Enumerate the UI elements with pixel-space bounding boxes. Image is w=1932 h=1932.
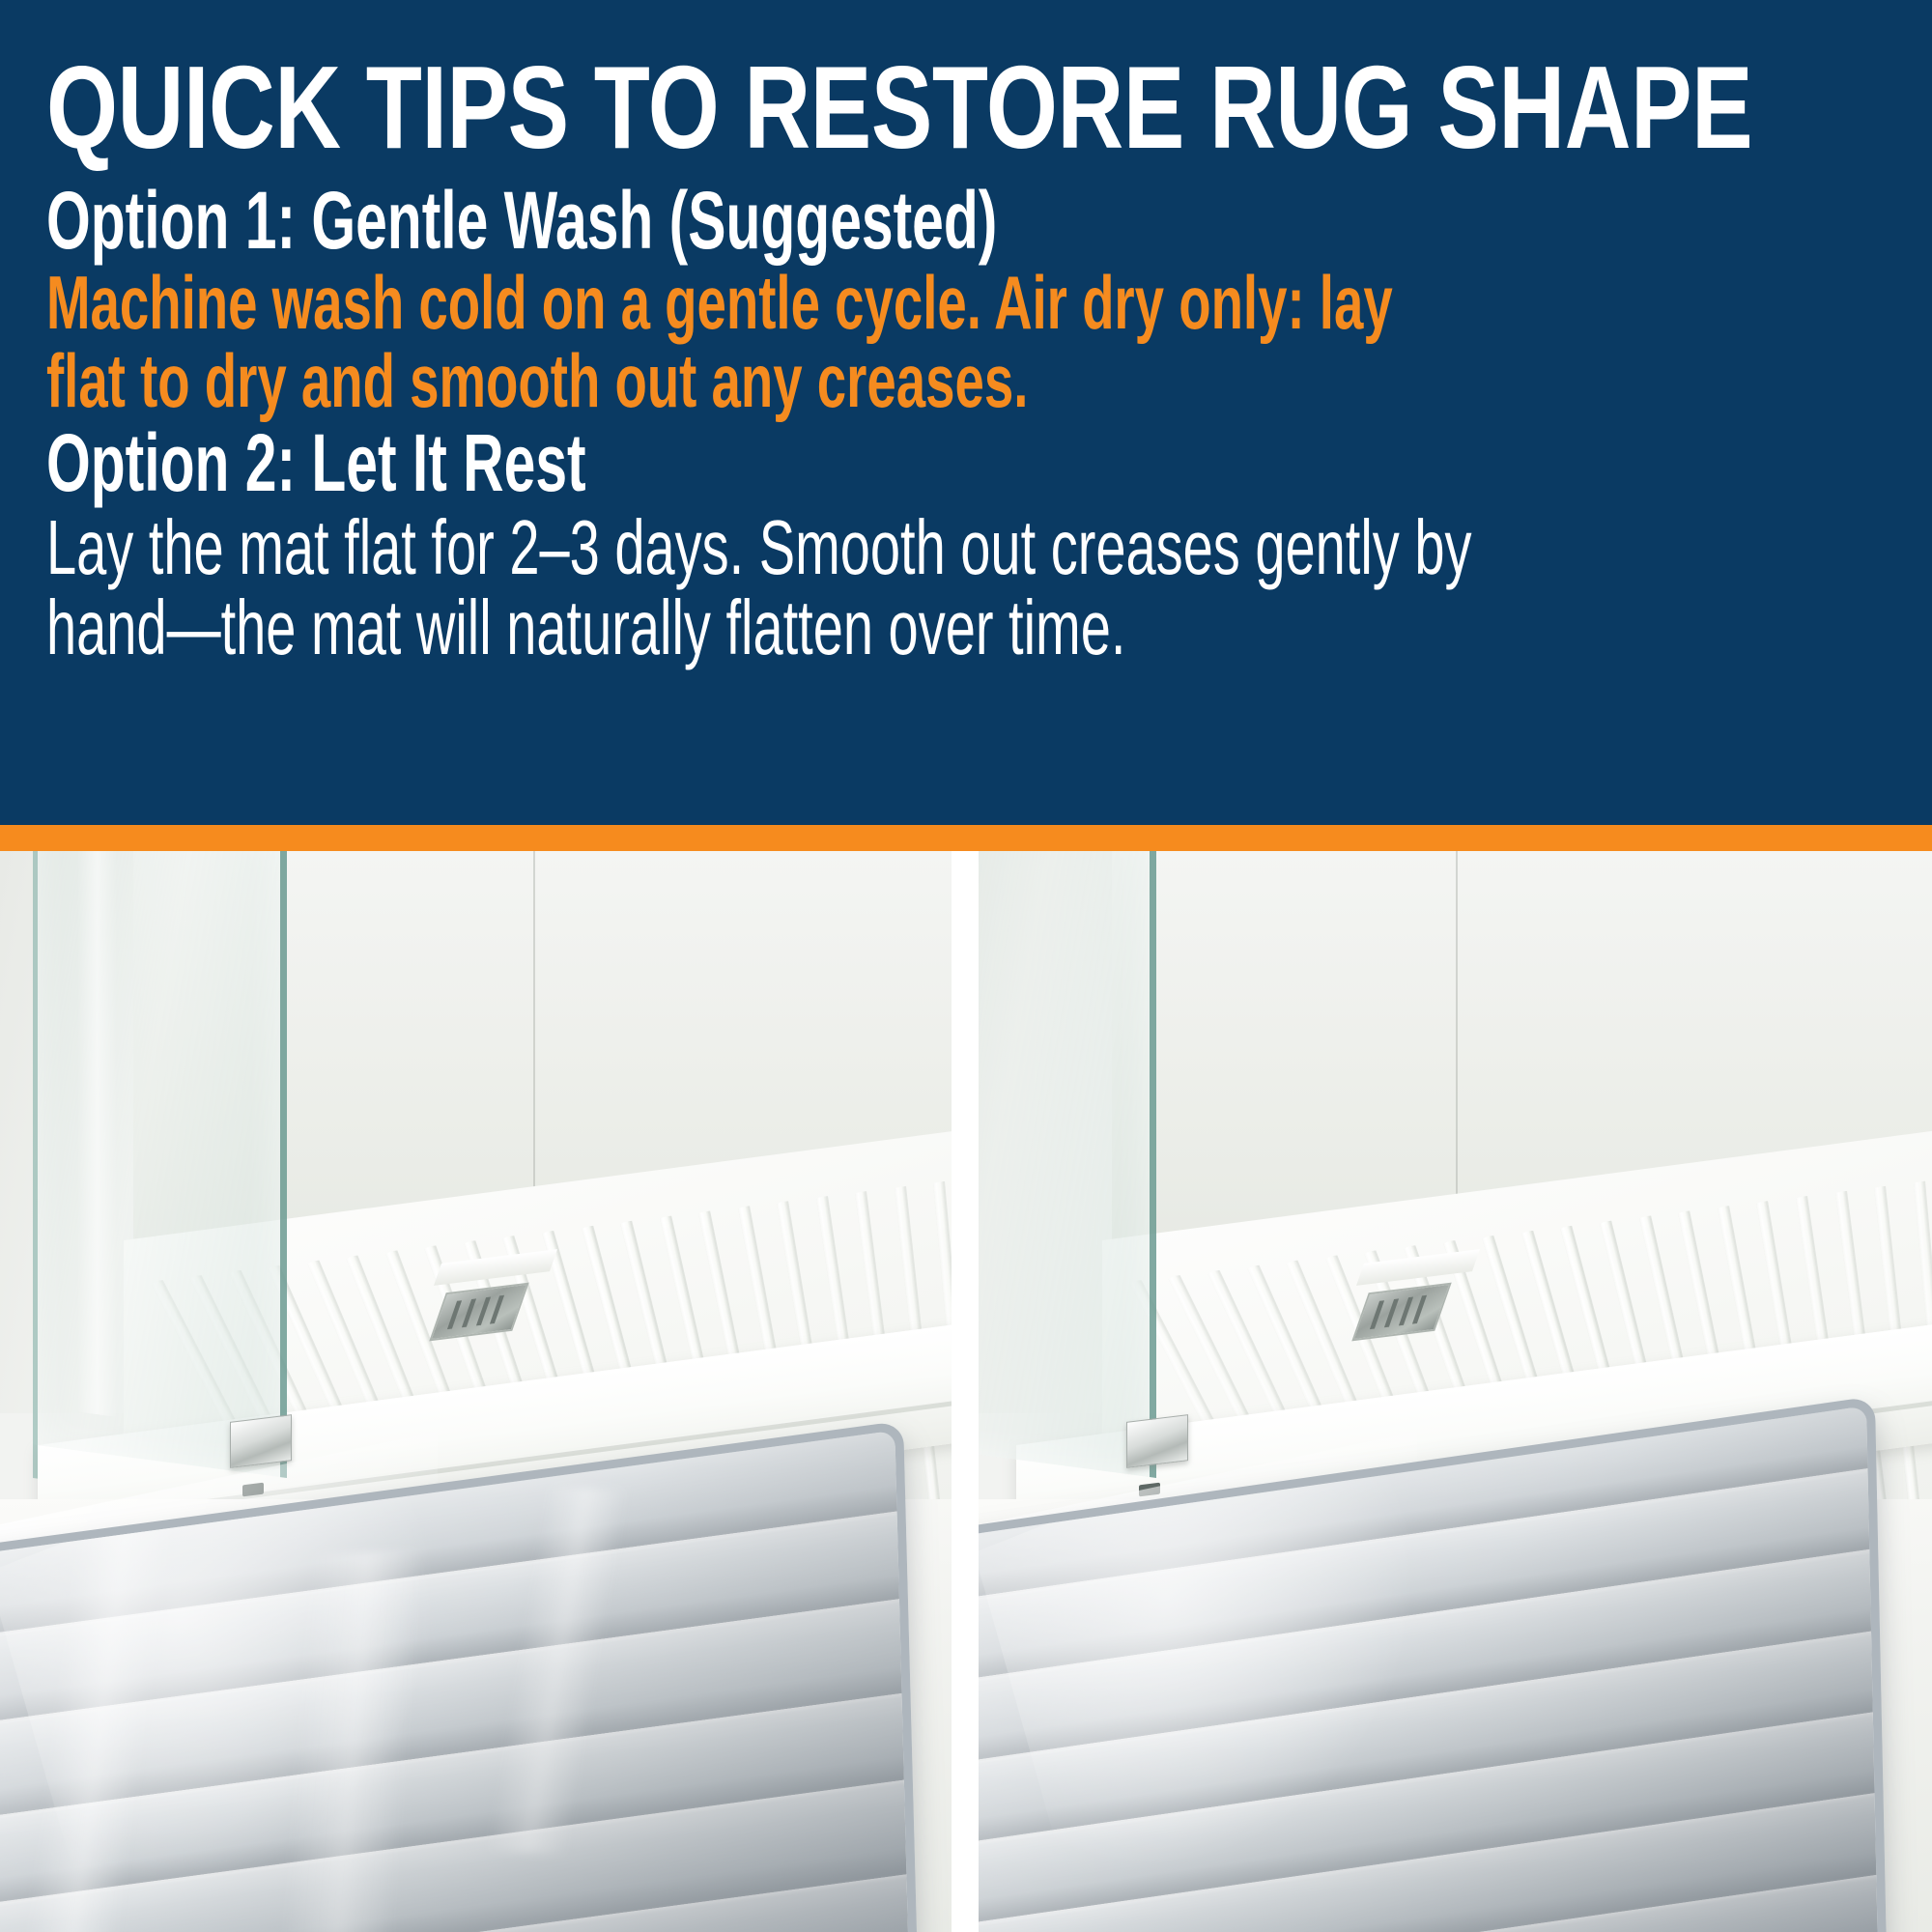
panel-gap-divider xyxy=(952,851,979,1932)
glass-left-edge xyxy=(33,851,38,1479)
creased-mat-photo xyxy=(0,851,952,1932)
option-2-body: Lay the mat flat for 2–3 days. Smooth ou… xyxy=(46,507,1913,668)
bathroom-scene-right xyxy=(979,851,1932,1932)
option-1-body-line-1: Machine wash cold on a gentle cycle. Air… xyxy=(46,264,1913,342)
drain-slot xyxy=(1398,1297,1412,1326)
glass-shower-panel xyxy=(979,851,1157,1478)
glass-sheen xyxy=(78,851,118,1417)
bathroom-scene-left xyxy=(0,851,952,1932)
glass-clamp-bracket xyxy=(230,1415,292,1469)
drain-slot xyxy=(476,1297,491,1326)
instructions-panel: QUICK TIPS TO RESTORE RUG SHAPE Option 1… xyxy=(0,0,1932,825)
drain-slot xyxy=(490,1295,504,1324)
drain-slot xyxy=(1412,1295,1427,1324)
glass-shower-panel xyxy=(33,851,287,1478)
orange-divider-bar xyxy=(0,825,1932,851)
option-1-body-line-2: flat to dry and smooth out any creases. xyxy=(46,342,1913,420)
page-title: QUICK TIPS TO RESTORE RUG SHAPE xyxy=(46,50,1487,166)
drain-slot xyxy=(447,1300,462,1329)
glass-clamp-bracket xyxy=(1126,1415,1188,1469)
infographic-page: QUICK TIPS TO RESTORE RUG SHAPE Option 1… xyxy=(0,0,1932,1932)
drain-slot xyxy=(1370,1300,1384,1329)
drain-slot xyxy=(1384,1298,1399,1327)
option-2-heading: Option 2: Let It Rest xyxy=(46,422,1339,505)
flattened-mat-photo xyxy=(979,851,1932,1932)
option-2-body-line-1: Lay the mat flat for 2–3 days. Smooth ou… xyxy=(46,507,1913,587)
drain-slot xyxy=(462,1298,476,1327)
option-2-body-line-2: hand—the mat will naturally flatten over… xyxy=(46,587,1913,668)
photo-comparison-row xyxy=(0,851,1932,1932)
option-1-heading: Option 1: Gentle Wash (Suggested) xyxy=(46,180,1339,263)
option-1-body: Machine wash cold on a gentle cycle. Air… xyxy=(46,264,1913,420)
